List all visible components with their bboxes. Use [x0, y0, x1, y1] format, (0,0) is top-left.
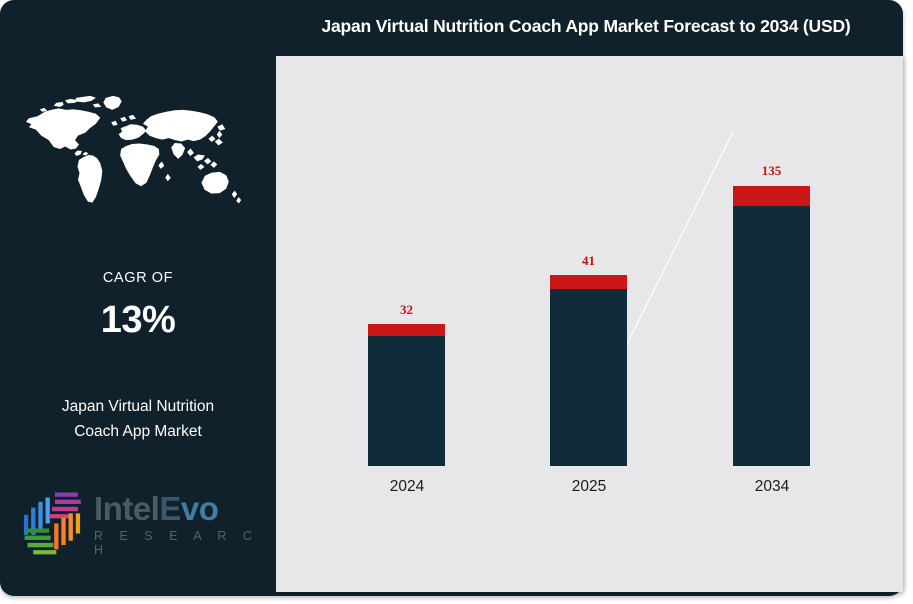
axis-label-2024: 2024: [342, 478, 472, 496]
world-map-icon: [14, 85, 262, 213]
market-name-line-2: Coach App Market: [18, 419, 258, 444]
logo-word-vo: vo: [181, 490, 219, 527]
pinwheel-bars-logo-icon: [16, 486, 88, 558]
bar-cap-2034: [733, 186, 810, 206]
logo-subtitle: R E S E A R C H: [94, 529, 274, 557]
bar-cap-2025: [550, 275, 627, 289]
bar-cap-2024: [368, 324, 445, 336]
bar-2024[interactable]: 32 2024: [368, 324, 445, 466]
screenshot-root: Japan Virtual Nutrition Coach App Market…: [0, 0, 913, 604]
bar-value-2034: 135: [733, 163, 810, 179]
bar-value-2025: 41: [550, 253, 627, 269]
axis-label-2025: 2025: [524, 478, 654, 496]
bar-2034[interactable]: 135 2034: [733, 186, 810, 466]
logo-word-intel: Intel: [94, 490, 159, 527]
market-name-line-1: Japan Virtual Nutrition: [18, 394, 258, 419]
sidebar: CAGR OF 13% Japan Virtual Nutrition Coac…: [0, 0, 276, 596]
title-band: Japan Virtual Nutrition Coach App Market…: [276, 0, 903, 56]
logo-text: IntelEvo R E S E A R C H: [94, 491, 274, 557]
cagr-label: CAGR OF: [0, 270, 276, 286]
bar-body-2025: [550, 289, 627, 466]
bar-body-2034: [733, 206, 810, 466]
logo-wordmark: IntelEvo: [94, 491, 274, 527]
chart-plot-area: 32 2024 41 2025 135 2034: [276, 56, 903, 592]
cagr-value: 13%: [0, 299, 276, 342]
chart-canvas: 32 2024 41 2025 135 2034: [276, 56, 903, 592]
bar-value-2024: 32: [368, 302, 445, 318]
logo-word-e: E: [159, 490, 181, 527]
market-name: Japan Virtual Nutrition Coach App Market: [18, 394, 258, 444]
axis-label-2034: 2034: [707, 478, 837, 496]
brand-logo: IntelEvo R E S E A R C H: [16, 484, 266, 558]
bar-body-2024: [368, 336, 445, 466]
bar-2025[interactable]: 41 2025: [550, 275, 627, 466]
